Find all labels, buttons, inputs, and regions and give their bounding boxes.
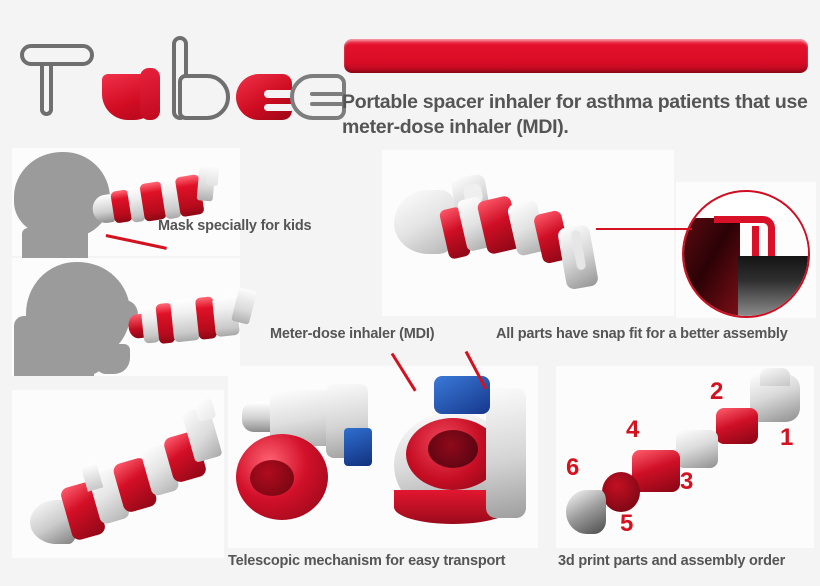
infographic-canvas: Portable spacer inhaler for asthma patie… — [0, 0, 820, 586]
part-3-white-ring — [676, 430, 718, 468]
part-2-red-ring — [716, 408, 758, 444]
brand-logo — [14, 30, 334, 130]
part-number-4: 4 — [626, 416, 639, 444]
logo-letter-e-red-slot-lower — [264, 104, 294, 111]
logo-letter-e-gray-bar-upper — [310, 92, 344, 96]
snap-fit-magnifier-circle — [682, 190, 810, 318]
collapsed-face-opening — [250, 460, 294, 496]
logo-letter-e-gray-bar-lower — [310, 102, 344, 106]
mdi-canister — [231, 287, 257, 324]
mdi-canister-blue-left — [344, 428, 372, 466]
part-5-red-cap — [602, 472, 640, 512]
logo-letter-b-bowl — [178, 74, 230, 120]
collapsed-wing-right — [486, 388, 526, 518]
part-number-1: 1 — [780, 424, 793, 452]
caption-parts: 3d print parts and assembly order — [558, 553, 785, 569]
leader-line-snap-detail — [596, 228, 692, 230]
exploded-parts-group: 1 2 3 4 5 6 — [564, 372, 810, 544]
part-6-mouthpiece — [566, 490, 606, 534]
caption-telescopic: Telescopic mechanism for easy transport — [228, 553, 505, 569]
part-1-tab — [760, 368, 790, 386]
collapsed-ring-opening — [428, 430, 478, 468]
assembled-product-render — [28, 408, 218, 548]
adult-chin-silhouette — [96, 344, 130, 374]
logo-letter-u-tail — [140, 68, 160, 120]
caption-snap-fit: All parts have snap fit for a better ass… — [496, 326, 788, 342]
device-render-mouthpiece — [125, 281, 269, 355]
section-view-render — [394, 164, 666, 304]
telescopic-render-group — [236, 372, 532, 544]
part-number-3: 3 — [680, 468, 693, 496]
part-number-6: 6 — [566, 454, 579, 482]
header-accent-bar — [344, 39, 808, 73]
caption-mask: Mask specially for kids — [158, 218, 311, 234]
logo-letter-t-bar — [20, 44, 94, 66]
part-number-2: 2 — [710, 378, 723, 406]
tagline-text: Portable spacer inhaler for asthma patie… — [342, 90, 820, 140]
magnifier-section-bottom — [738, 256, 810, 316]
mdi-canister-top — [206, 163, 220, 186]
caption-mdi: Meter-dose inhaler (MDI) — [270, 326, 434, 342]
logo-letter-e-gray — [290, 74, 346, 120]
part-number-5: 5 — [620, 510, 633, 538]
